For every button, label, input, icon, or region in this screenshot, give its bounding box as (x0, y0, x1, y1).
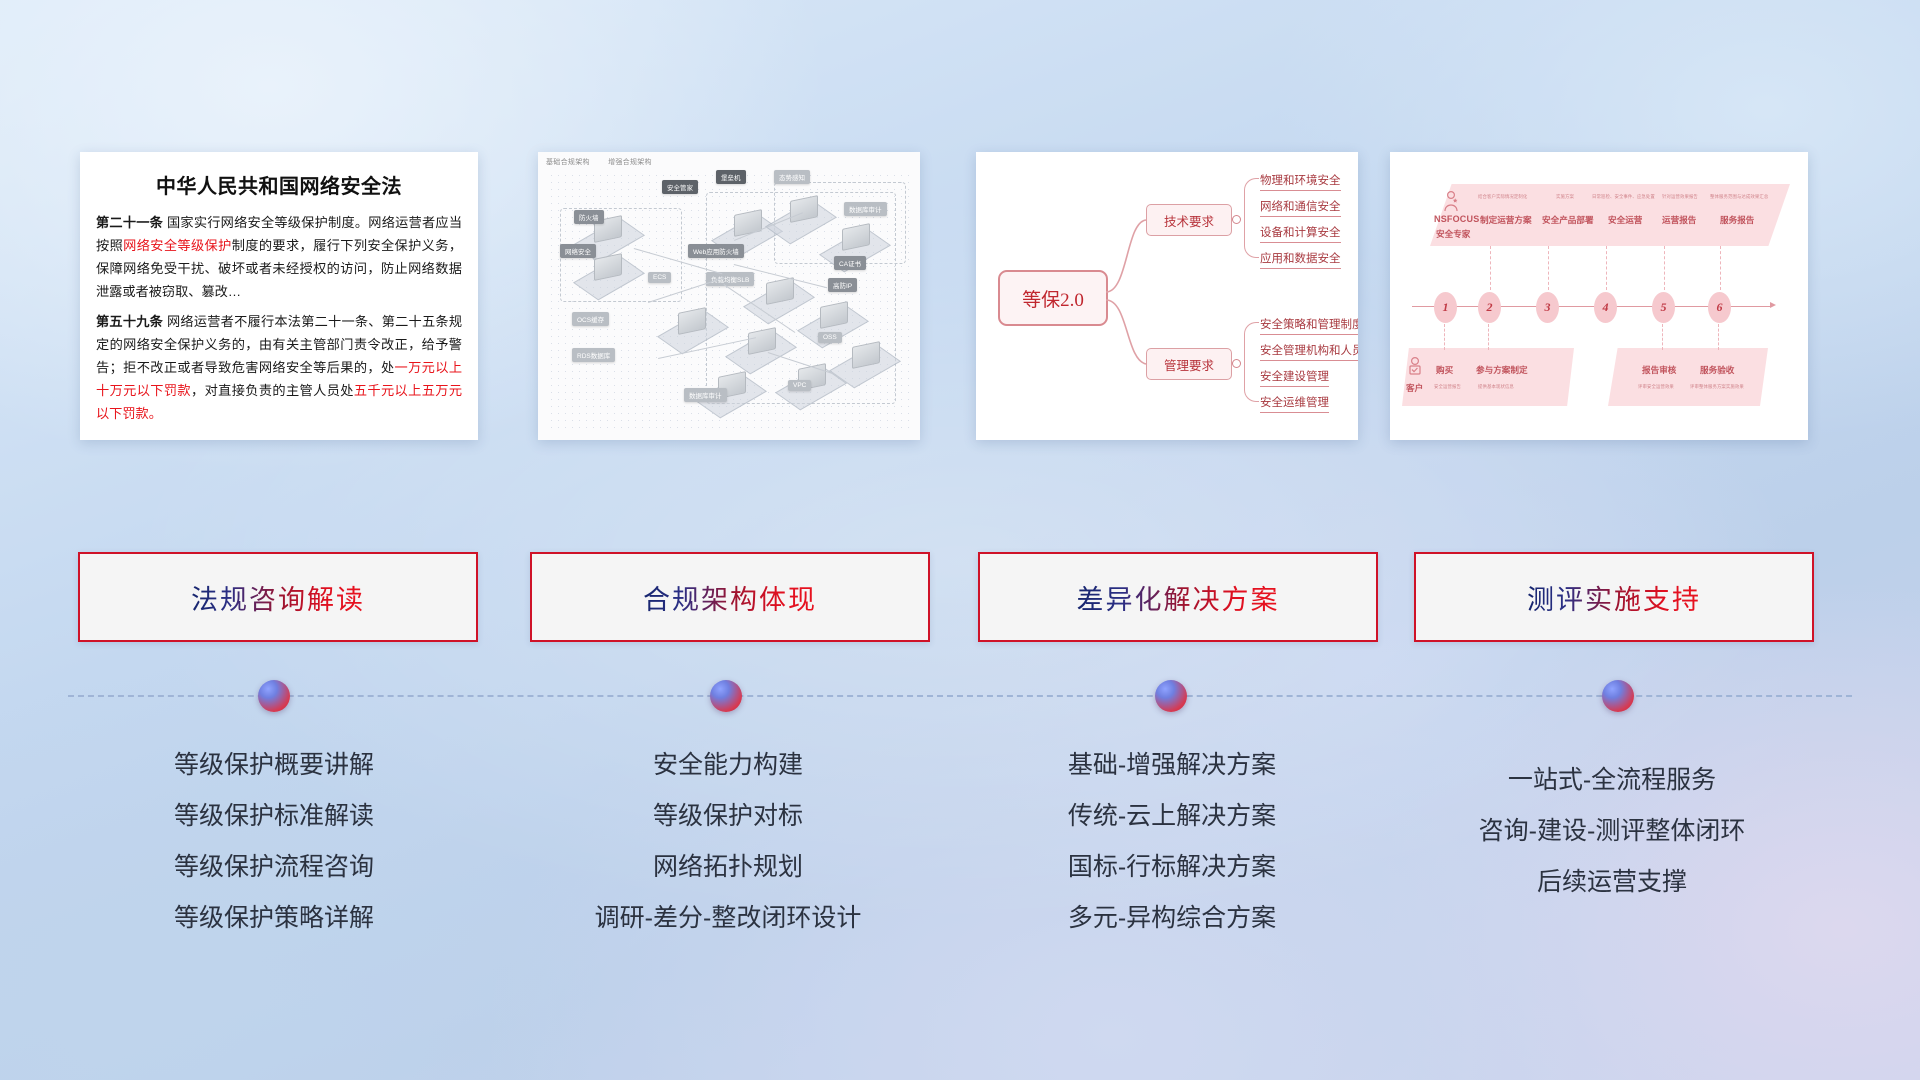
column-1-item-1: 等级保护概要讲解 (74, 740, 474, 791)
mindmap-leaf-m1: 安全策略和管理制度 (1260, 316, 1358, 335)
timeline-dash-3 (1548, 246, 1550, 290)
customer-step-4-main: 服务验收 (1700, 364, 1734, 376)
column-3-item-3: 国标-行标解决方案 (972, 842, 1372, 893)
column-2-item-4: 调研-差分-整改闭环设计 (528, 893, 928, 944)
mindmap-leaf-t4: 应用和数据安全 (1260, 250, 1341, 269)
architecture-canvas: 基础合规架构 增强合规架构 (538, 152, 920, 440)
arch-node-anti-ddos-ip: 高防IP (828, 278, 857, 292)
security-expert-icon (1442, 190, 1460, 212)
arch-node-situational-awareness: 态势感知 (774, 170, 810, 184)
header-box-evaluation-support[interactable]: 测评实施支持 (1414, 552, 1814, 642)
timeline-dash-c3 (1662, 324, 1664, 350)
arch-node-ca-cert: CA证书 (834, 256, 866, 270)
step-3-main: 安全产品部署 (1542, 214, 1594, 226)
column-regulation-consulting: 等级保护概要讲解 等级保护标准解读 等级保护流程咨询 等级保护策略详解 (74, 740, 474, 944)
arch-node-vpc: VPC (788, 380, 811, 391)
column-evaluation-support: 一站式-全流程服务 咨询-建设-测评整体闭环 后续运营支撑 (1412, 755, 1812, 908)
nsfocus-canvas: NSFOCUS 安全专家 结合客户实际情况定制化 制定运营方案 实施方案 安全产… (1390, 152, 1808, 440)
mindmap-bracket-technical (1244, 178, 1259, 258)
timeline-dashed-line (68, 695, 1852, 697)
arch-node-bastion-host: 堡垒机 (716, 170, 746, 184)
column-2-item-3: 网络拓扑规划 (528, 842, 928, 893)
tab-basic-architecture[interactable]: 基础合规架构 (546, 159, 590, 166)
timeline-node-3[interactable]: 3 (1536, 292, 1559, 323)
customer-role-label: 客户 (1406, 382, 1423, 394)
timeline-dot-3[interactable] (1155, 680, 1187, 712)
header-label-1: 法规咨询解读 (191, 578, 365, 617)
mindmap-bracket-management (1244, 322, 1259, 402)
arch-node-oss: OSS (818, 332, 842, 343)
mindmap-leaf-m2: 安全管理机构和人员 (1260, 342, 1358, 361)
header-box-compliance-architecture[interactable]: 合规架构体现 (530, 552, 930, 642)
column-4-item-2: 咨询-建设-测评整体闭环 (1412, 806, 1812, 857)
arch-node-ecs: ECS (648, 272, 671, 283)
customer-step-3-main: 报告审核 (1642, 364, 1676, 376)
header-label-4: 测评实施支持 (1527, 578, 1701, 617)
column-4-item-3: 后续运营支撑 (1412, 857, 1812, 908)
arch-node-db-audit-top: 数据库审计 (844, 202, 887, 216)
timeline-dash-6 (1720, 246, 1722, 290)
arch-node-db-audit-bottom: 数据库审计 (684, 388, 727, 402)
timeline-node-5[interactable]: 5 (1652, 292, 1675, 323)
nsfocus-brand: NSFOCUS (1434, 214, 1479, 224)
nsfocus-customer-band-right (1608, 348, 1768, 406)
timeline-dot-4[interactable] (1602, 680, 1634, 712)
header-label-2: 合规架构体现 (643, 578, 817, 617)
mindmap-leaf-t1: 物理和环境安全 (1260, 172, 1341, 191)
article-21-number: 第二十一条 (96, 215, 163, 230)
mindmap-hub-technical[interactable] (1232, 215, 1241, 224)
mindmap-leaf-t3: 设备和计算安全 (1260, 224, 1341, 243)
article-59-number: 第五十九条 (96, 314, 163, 329)
mindmap-branch-management: 管理要求 (1146, 348, 1232, 380)
step-3-sub: 实施方案 (1556, 194, 1574, 200)
step-4-sub: 日常巡检、安全事件、应急处置 (1592, 194, 1655, 200)
law-title: 中华人民共和国网络安全法 (96, 170, 462, 199)
header-box-differentiated-solution[interactable]: 差异化解决方案 (978, 552, 1378, 642)
step-6-sub: 整体服务范围与达成效果汇总 (1710, 194, 1768, 200)
step-2-main: 制定运营方案 (1480, 214, 1532, 226)
step-5-main: 运营报告 (1662, 214, 1696, 226)
timeline-node-2[interactable]: 2 (1478, 292, 1501, 323)
timeline-node-6[interactable]: 6 (1708, 292, 1731, 323)
arch-node-rds-db: RDS数据库 (572, 348, 615, 362)
step-2-sub: 结合客户实际情况定制化 (1478, 194, 1527, 200)
timeline-dash-4 (1606, 246, 1608, 290)
law-article-59: 第五十九条 网络运营者不履行本法第二十一条、第二十五条规定的网络安全保护义务的，… (96, 310, 462, 425)
nsfocus-expert-role: 安全专家 (1436, 228, 1470, 240)
step-5-sub: 针对运营效果报告 (1662, 194, 1698, 200)
architecture-tabs: 基础合规架构 增强合规架构 (546, 157, 668, 167)
mindmap-leaf-t2: 网络和通信安全 (1260, 198, 1341, 217)
timeline-arrow-icon (1770, 302, 1776, 308)
customer-step-1-sub: 安全运营报告 (1434, 384, 1461, 390)
timeline-dash-c4 (1718, 324, 1720, 350)
article-59-text-b: ，对直接负责的主管人员处 (191, 383, 354, 398)
card-law-text[interactable]: 中华人民共和国网络安全法 第二十一条 国家实行网络安全等级保护制度。网络运营者应… (80, 152, 478, 440)
mindmap-branch-technical: 技术要求 (1146, 204, 1232, 236)
arch-node-firewall: 防火墙 (574, 210, 604, 224)
mindmap-canvas: 等保2.0 技术要求 管理要求 物理和环境安全 网络和通信安全 设备和计算安全 … (976, 152, 1358, 440)
law-body: 中华人民共和国网络安全法 第二十一条 国家实行网络安全等级保护制度。网络运营者应… (80, 152, 478, 440)
timeline-dash-c2 (1488, 324, 1490, 350)
customer-step-4-sub: 评审整体服务方案实施效果 (1690, 384, 1744, 390)
customer-step-1-main: 购买 (1436, 364, 1453, 376)
card-nsfocus-timeline[interactable]: NSFOCUS 安全专家 结合客户实际情况定制化 制定运营方案 实施方案 安全产… (1390, 152, 1808, 440)
law-article-21: 第二十一条 国家实行网络安全等级保护制度。网络运营者应当按照网络安全等级保护制度… (96, 211, 462, 303)
article-21-highlight: 网络安全等级保护 (123, 238, 232, 253)
timeline-dot-1[interactable] (258, 680, 290, 712)
tab-enhanced-architecture[interactable]: 增强合规架构 (608, 159, 652, 166)
timeline-node-4[interactable]: 4 (1594, 292, 1617, 323)
timeline-dot-2[interactable] (710, 680, 742, 712)
arch-node-waf: Web应用防火墙 (688, 244, 744, 258)
timeline-dash-5 (1664, 246, 1666, 290)
column-3-item-2: 传统-云上解决方案 (972, 791, 1372, 842)
column-differentiated-solution: 基础-增强解决方案 传统-云上解决方案 国标-行标解决方案 多元-异构综合方案 (972, 740, 1372, 944)
step-4-main: 安全运营 (1608, 214, 1642, 226)
column-2-item-1: 安全能力构建 (528, 740, 928, 791)
column-2-item-2: 等级保护对标 (528, 791, 928, 842)
timeline-dash-2 (1490, 246, 1492, 290)
mindmap-hub-management[interactable] (1232, 359, 1241, 368)
column-1-item-2: 等级保护标准解读 (74, 791, 474, 842)
customer-icon (1406, 356, 1424, 378)
header-label-3: 差异化解决方案 (1077, 578, 1280, 617)
column-3-item-4: 多元-异构综合方案 (972, 893, 1372, 944)
timeline-dash-c1 (1444, 324, 1446, 350)
arch-node-network-security: 网络安全 (560, 244, 596, 258)
customer-step-2-main: 参与方案制定 (1476, 364, 1528, 376)
column-1-item-4: 等级保护策略详解 (74, 893, 474, 944)
card-dengbao-mindmap[interactable]: 等保2.0 技术要求 管理要求 物理和环境安全 网络和通信安全 设备和计算安全 … (976, 152, 1358, 440)
column-1-item-3: 等级保护流程咨询 (74, 842, 474, 893)
arch-node-ocs-cache: OCS缓存 (572, 312, 609, 326)
customer-step-2-sub: 提供基本现状信息 (1478, 384, 1514, 390)
step-6-main: 服务报告 (1720, 214, 1754, 226)
header-box-regulation-consulting[interactable]: 法规咨询解读 (78, 552, 478, 642)
column-3-item-1: 基础-增强解决方案 (972, 740, 1372, 791)
nsfocus-customer-band-left (1402, 348, 1574, 406)
timeline-node-1[interactable]: 1 (1434, 292, 1457, 323)
arch-node-security-butler: 安全管家 (662, 180, 698, 194)
customer-step-3-sub: 评审安全运营效果 (1638, 384, 1674, 390)
column-4-item-1: 一站式-全流程服务 (1412, 755, 1812, 806)
column-compliance-architecture: 安全能力构建 等级保护对标 网络拓扑规划 调研-差分-整改闭环设计 (528, 740, 928, 944)
mindmap-leaf-m4: 安全运维管理 (1260, 394, 1329, 413)
card-cloud-architecture[interactable]: 基础合规架构 增强合规架构 (538, 152, 920, 440)
arch-node-slb: 负载均衡SLB (706, 272, 754, 286)
mindmap-leaf-m3: 安全建设管理 (1260, 368, 1329, 387)
